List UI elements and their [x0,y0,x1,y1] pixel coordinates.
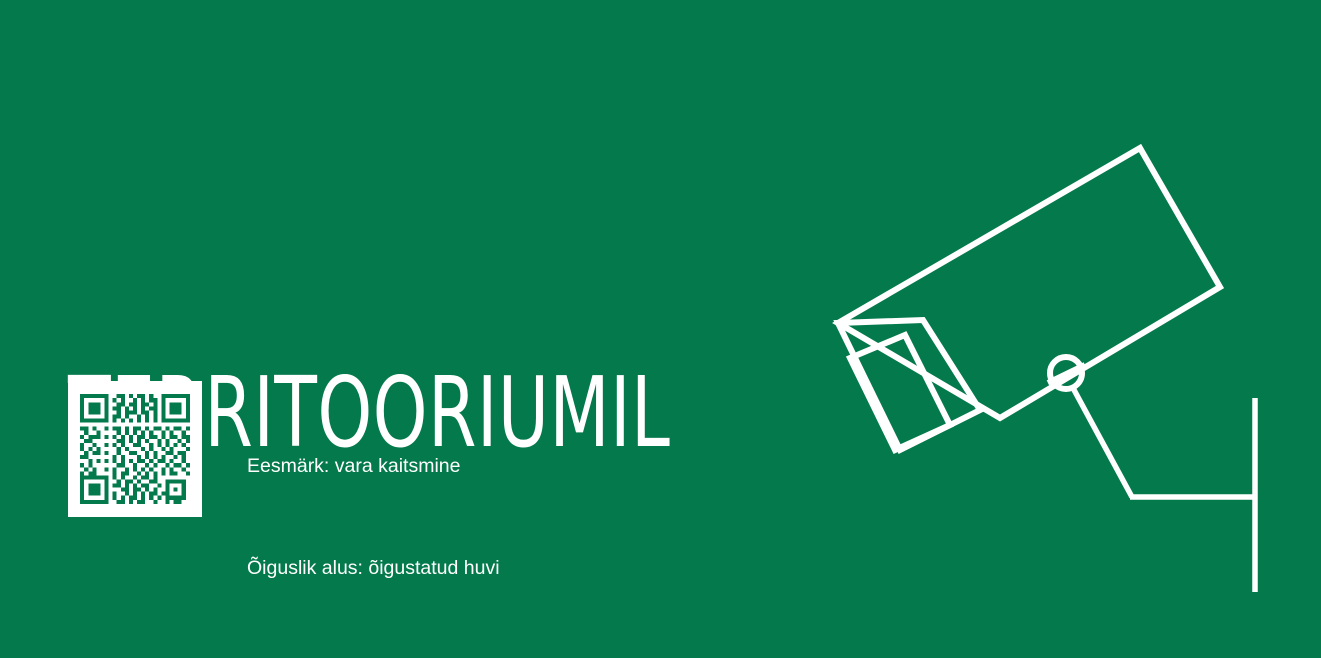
video-surveillance-sign: TERRITOORIUMIL ON VIDEOVALVE [0,0,1321,658]
surveillance-camera-drawing [820,130,1290,620]
camera-body-shape [838,148,1220,418]
detail-controller: Vastutav töötleja: Riigimetsa Majandamis… [247,653,682,658]
surveillance-camera-icon [820,130,1290,620]
qr-code-image [68,381,202,517]
detail-list: Eesmärk: vara kaitsmine Õiguslik alus: õ… [247,381,682,658]
qr-code[interactable] [68,381,202,517]
camera-mount-arm [1073,388,1132,497]
detail-legal-basis: Õiguslik alus: õigustatud huvi [247,551,682,585]
camera-lens-shape [850,335,950,450]
detail-purpose: Eesmärk: vara kaitsmine [247,449,682,483]
